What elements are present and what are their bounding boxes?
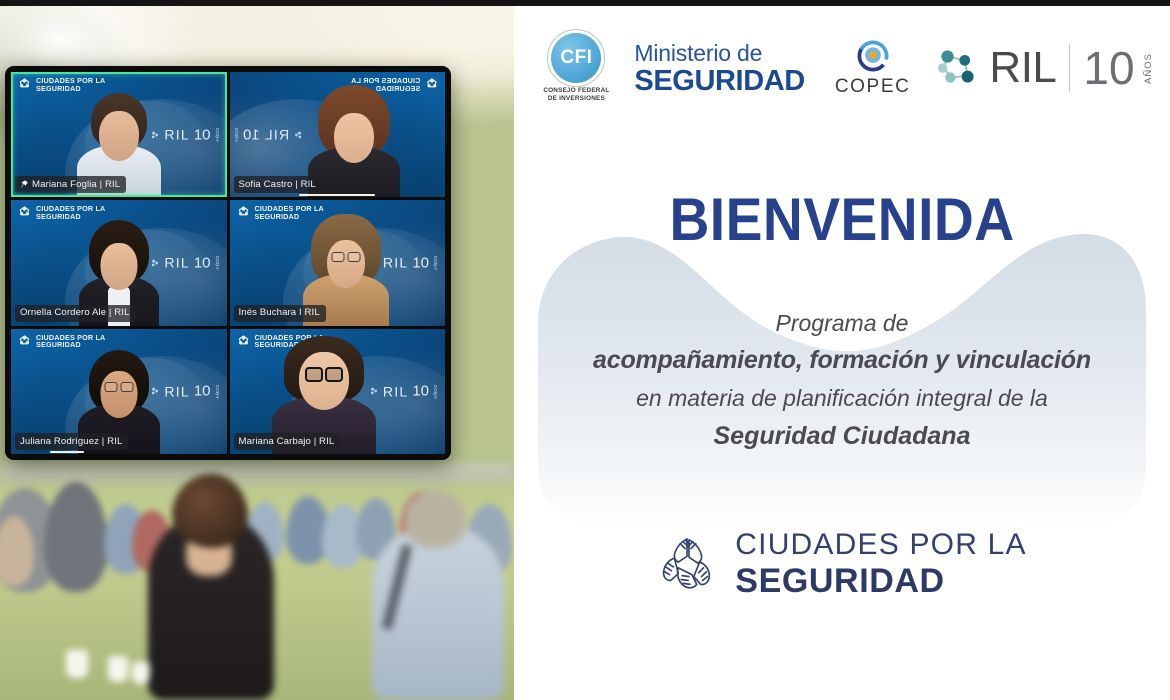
slide-panel: CFI CONSEJO FEDERAL DE INVERSIONES Minis… xyxy=(514,0,1170,700)
ministerio-seguridad-logo: Ministerio de SEGURIDAD xyxy=(634,41,804,96)
video-tile[interactable]: CIUDADES POR LASEGURIDAD RIL 10 AÑOS xyxy=(230,329,446,454)
ril-wordmark: RIL xyxy=(989,46,1056,90)
eyeglasses xyxy=(104,382,133,392)
ril-anos: AÑOS xyxy=(215,128,220,142)
video-tile-grid: CIUDADES POR LASEGURIDAD RIL 10 AÑOS xyxy=(11,72,445,454)
eyeglasses xyxy=(305,367,343,382)
video-tile[interactable]: CIUDADES POR LASEGURIDAD RIL 10 AÑOS xyxy=(11,329,227,454)
watermark-text: CIUDADES POR LASEGURIDAD xyxy=(36,77,105,92)
virtual-bg-watermark: CIUDADES POR LASEGURIDAD xyxy=(17,77,105,92)
ciudades-por-la-seguridad-logo: CIUDADES POR LA SEGURIDAD xyxy=(514,528,1170,600)
ministerio-line2: SEGURIDAD xyxy=(634,66,804,96)
body-line-1: Programa de xyxy=(514,305,1170,341)
participant-name: Mariana Foglia | RIL xyxy=(32,178,120,191)
ril-anos: AÑOS xyxy=(215,384,220,398)
participant-name: Ornella Cordero Ale | RIL xyxy=(20,306,130,319)
cfi-circle-icon: CFI xyxy=(551,33,601,83)
cfi-logo: CFI CONSEJO FEDERAL DE INVERSIONES xyxy=(530,33,622,102)
video-call-window[interactable]: CIUDADES POR LASEGURIDAD RIL 10 AÑOS xyxy=(5,66,451,460)
ril-wordmark: RIL xyxy=(164,383,189,399)
hands-logo-icon xyxy=(236,334,251,349)
cps-line1: CIUDADES POR LA xyxy=(735,528,1026,562)
ril-molecule-icon xyxy=(151,258,160,267)
ril-anos: AÑOS xyxy=(215,256,220,270)
ril-ten: 10 xyxy=(194,383,211,400)
ril-anniversary-unit: AÑOS xyxy=(1143,53,1154,84)
hands-logo-icon xyxy=(17,334,32,349)
body-line-4: Seguridad Ciudadana xyxy=(514,417,1170,455)
ril-ten: 10 xyxy=(412,383,429,400)
sponsor-logo-bar: CFI CONSEJO FEDERAL DE INVERSIONES Minis… xyxy=(514,28,1170,108)
photo-main-hair xyxy=(172,474,248,548)
copec-logo: COPEC xyxy=(835,39,911,98)
virtual-bg-watermark: CIUDADES POR LASEGURIDAD xyxy=(17,334,105,349)
participant-name: Sofia Castro | RIL xyxy=(239,178,316,191)
hands-logo-icon xyxy=(17,77,32,92)
camera-photo-panel: CIUDADES POR LASEGURIDAD RIL 10 AÑOS xyxy=(0,0,514,700)
participant-name: Juliana Rodríguez | RIL xyxy=(20,435,122,448)
ril-molecule-icon xyxy=(370,387,379,396)
participant-name-badge: Sofia Castro | RIL xyxy=(234,176,322,193)
ril-ten: 10 xyxy=(243,126,260,143)
letterbox-bar xyxy=(0,0,1170,6)
ril-anniversary-number: 10 xyxy=(1083,45,1134,91)
participant-name-badge: Juliana Rodríguez | RIL xyxy=(15,433,128,450)
virtual-bg-watermark: CIUDADES POR LASEGURIDAD xyxy=(17,205,105,220)
hands-logo-icon xyxy=(424,77,439,92)
participant-name: Mariana Carbajo | RIL xyxy=(239,435,335,448)
cfi-subtitle-line1: CONSEJO FEDERAL xyxy=(543,87,609,95)
ril-molecule-icon xyxy=(293,130,302,139)
video-tile[interactable]: CIUDADES POR LASEGURIDAD RIL 10 AÑOS xyxy=(230,72,446,197)
ril-molecule-icon xyxy=(151,130,160,139)
video-tile[interactable]: CIUDADES POR LASEGURIDAD RIL 10 AÑOS xyxy=(11,72,227,197)
ril-anos: AÑOS xyxy=(433,256,438,270)
ril-wordmark: RIL xyxy=(263,127,288,143)
ril-ten: 10 xyxy=(194,126,211,143)
ril-wordmark: RIL xyxy=(383,383,408,399)
participant-name-badge: Mariana Carbajo | RIL xyxy=(234,433,341,450)
watermark-text: CIUDADES POR LASEGURIDAD xyxy=(36,334,105,349)
ril-ten: 10 xyxy=(412,254,429,271)
ril-molecule-icon xyxy=(936,45,982,91)
cps-line2: SEGURIDAD xyxy=(735,562,1026,600)
virtual-bg-ril-brand: RIL 10 AÑOS xyxy=(151,254,219,271)
eyeglasses xyxy=(331,252,360,262)
virtual-bg-ril-brand: RIL 10 AÑOS xyxy=(151,126,219,143)
participant-name-badge: Inés Buchara I RIL xyxy=(234,305,326,322)
slide-body-text: Programa de acompañamiento, formación y … xyxy=(514,305,1170,455)
clasped-hands-icon xyxy=(657,533,719,595)
video-tile[interactable]: CIUDADES POR LASEGURIDAD RIL 10 AÑOS xyxy=(230,200,446,325)
virtual-bg-ril-brand: RIL 10 AÑOS xyxy=(370,383,438,400)
ril-wordmark: RIL xyxy=(164,255,189,271)
ril-logo: RIL 10 AÑOS xyxy=(936,44,1153,92)
copec-swirl-icon xyxy=(856,39,890,73)
ril-ten: 10 xyxy=(194,254,211,271)
ril-anos: AÑOS xyxy=(433,384,438,398)
watermark-text: CIUDADES POR LASEGURIDAD xyxy=(255,205,324,220)
photo-crowd-blobs xyxy=(0,452,514,700)
ril-molecule-icon xyxy=(151,387,160,396)
page-title: BIENVENIDA xyxy=(540,185,1144,254)
body-line-2: acompañamiento, formación y vinculación xyxy=(514,341,1170,379)
watermark-text: CIUDADES POR LASEGURIDAD xyxy=(36,205,105,220)
participant-name: Inés Buchara I RIL xyxy=(239,306,320,319)
video-tile[interactable]: CIUDADES POR LASEGURIDAD RIL 10 AÑOS xyxy=(11,200,227,325)
virtual-bg-ril-brand: RIL 10 AÑOS xyxy=(151,383,219,400)
ril-divider xyxy=(1069,44,1070,92)
ril-wordmark: RIL xyxy=(383,255,408,271)
photograph-crowd-lower xyxy=(0,452,514,700)
ril-anos: AÑOS xyxy=(234,128,239,142)
cps-wordmark: CIUDADES POR LA SEGURIDAD xyxy=(735,528,1026,600)
cfi-monogram: CFI xyxy=(560,47,592,69)
ministerio-line1: Ministerio de xyxy=(634,41,804,66)
hands-logo-icon xyxy=(236,205,251,220)
cfi-subtitle: CONSEJO FEDERAL DE INVERSIONES xyxy=(543,87,609,102)
body-line-3: en materia de planificación integral de … xyxy=(514,379,1170,417)
presentation-screenshot: CIUDADES POR LASEGURIDAD RIL 10 AÑOS xyxy=(0,0,1170,700)
participant-name-badge: Mariana Foglia | RIL xyxy=(15,176,126,193)
virtual-bg-watermark: CIUDADES POR LASEGURIDAD xyxy=(236,205,324,220)
participant-name-badge: Ornella Cordero Ale | RIL xyxy=(15,305,136,322)
pin-icon xyxy=(20,180,29,189)
ril-wordmark: RIL xyxy=(164,127,189,143)
copec-wordmark: COPEC xyxy=(835,76,911,98)
hands-logo-icon xyxy=(17,205,32,220)
cfi-subtitle-line2: DE INVERSIONES xyxy=(543,95,609,103)
photo-right-head xyxy=(404,490,466,548)
virtual-bg-ril-brand: RIL 10 AÑOS xyxy=(234,126,302,143)
